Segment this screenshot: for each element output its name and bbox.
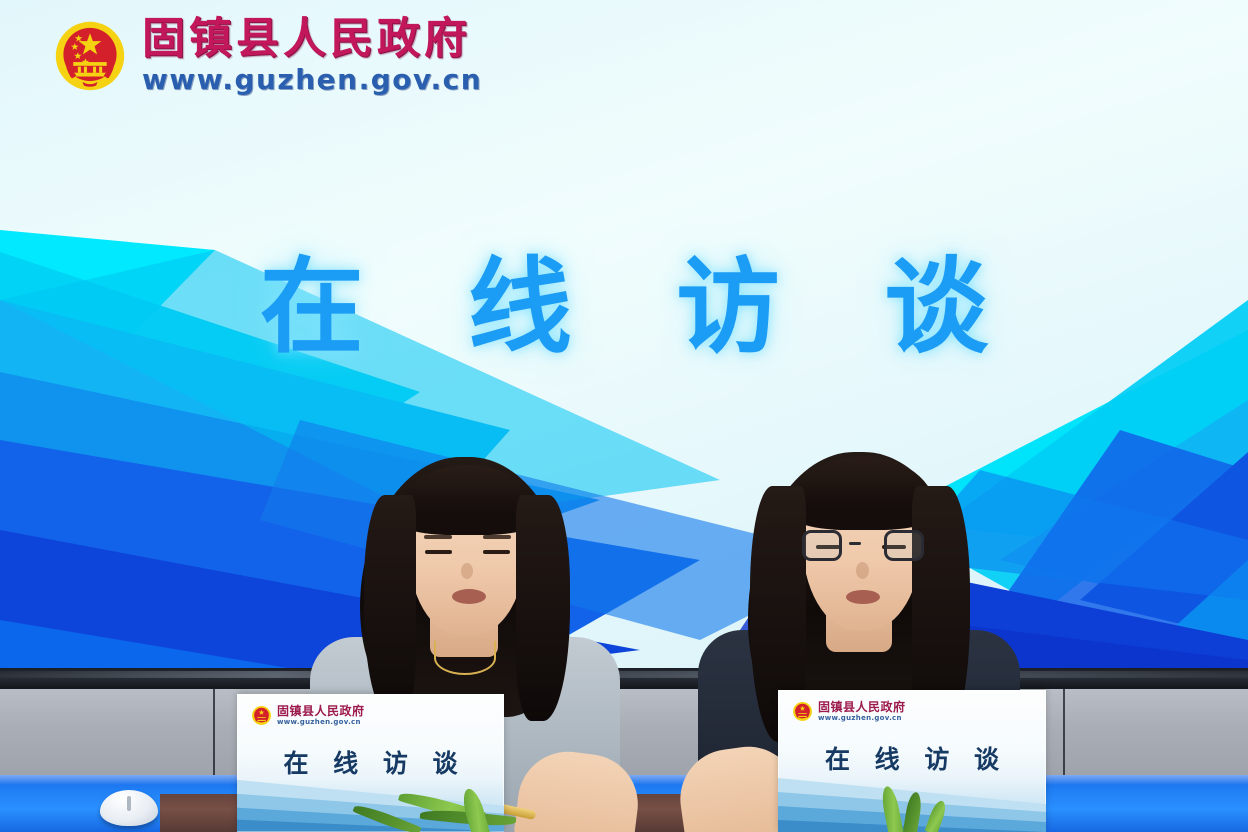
left-participant-nose	[461, 563, 473, 579]
national-emblem-icon	[52, 18, 128, 94]
nameplate-gov-name: 固镇县人民政府	[277, 705, 365, 717]
national-emblem-icon	[792, 701, 813, 722]
left-participant-mouth	[452, 589, 486, 604]
gov-name-label: 固镇县人民政府	[142, 18, 482, 61]
page-title: 在 线 访 谈	[0, 222, 1248, 373]
nameplate-gov-name: 固镇县人民政府	[818, 701, 906, 713]
right-participant-mouth	[846, 590, 880, 604]
nameplate-logo: 固镇县人民政府 www.guzhen.gov.cn	[792, 701, 906, 722]
left-participant-hair	[364, 495, 416, 717]
broadcast-screenshot: 固镇县人民政府 www.guzhen.gov.cn 在 线 访 谈	[0, 0, 1248, 832]
left-participant-brow	[483, 535, 511, 539]
gov-logo-block: 固镇县人民政府 www.guzhen.gov.cn	[52, 18, 482, 94]
left-participant-eye	[483, 550, 510, 554]
desk-panel-seam	[213, 689, 215, 775]
left-participant-eye	[425, 550, 452, 554]
nameplate-gov-url: www.guzhen.gov.cn	[277, 719, 365, 726]
gov-url-label: www.guzhen.gov.cn	[142, 66, 482, 94]
desk-panel-seam	[1063, 689, 1065, 775]
nameplate-gov-url: www.guzhen.gov.cn	[818, 715, 906, 722]
left-participant-necklace	[434, 641, 496, 675]
eyeglasses-icon	[802, 530, 924, 564]
nameplate-logo: 固镇县人民政府 www.guzhen.gov.cn	[251, 705, 365, 726]
nameplate-title: 在 线 访 谈	[237, 744, 504, 780]
right-participant-nose	[856, 562, 869, 579]
nameplate-logo-text: 固镇县人民政府 www.guzhen.gov.cn	[277, 705, 365, 726]
computer-mouse-icon[interactable]	[100, 790, 158, 826]
nameplate-logo-text: 固镇县人民政府 www.guzhen.gov.cn	[818, 701, 906, 722]
left-participant-hair	[516, 495, 570, 721]
gov-logo-text: 固镇县人民政府 www.guzhen.gov.cn	[142, 18, 482, 94]
left-participant-brow	[424, 535, 452, 539]
national-emblem-icon	[251, 705, 272, 726]
nameplate-title: 在 线 访 谈	[778, 740, 1046, 776]
